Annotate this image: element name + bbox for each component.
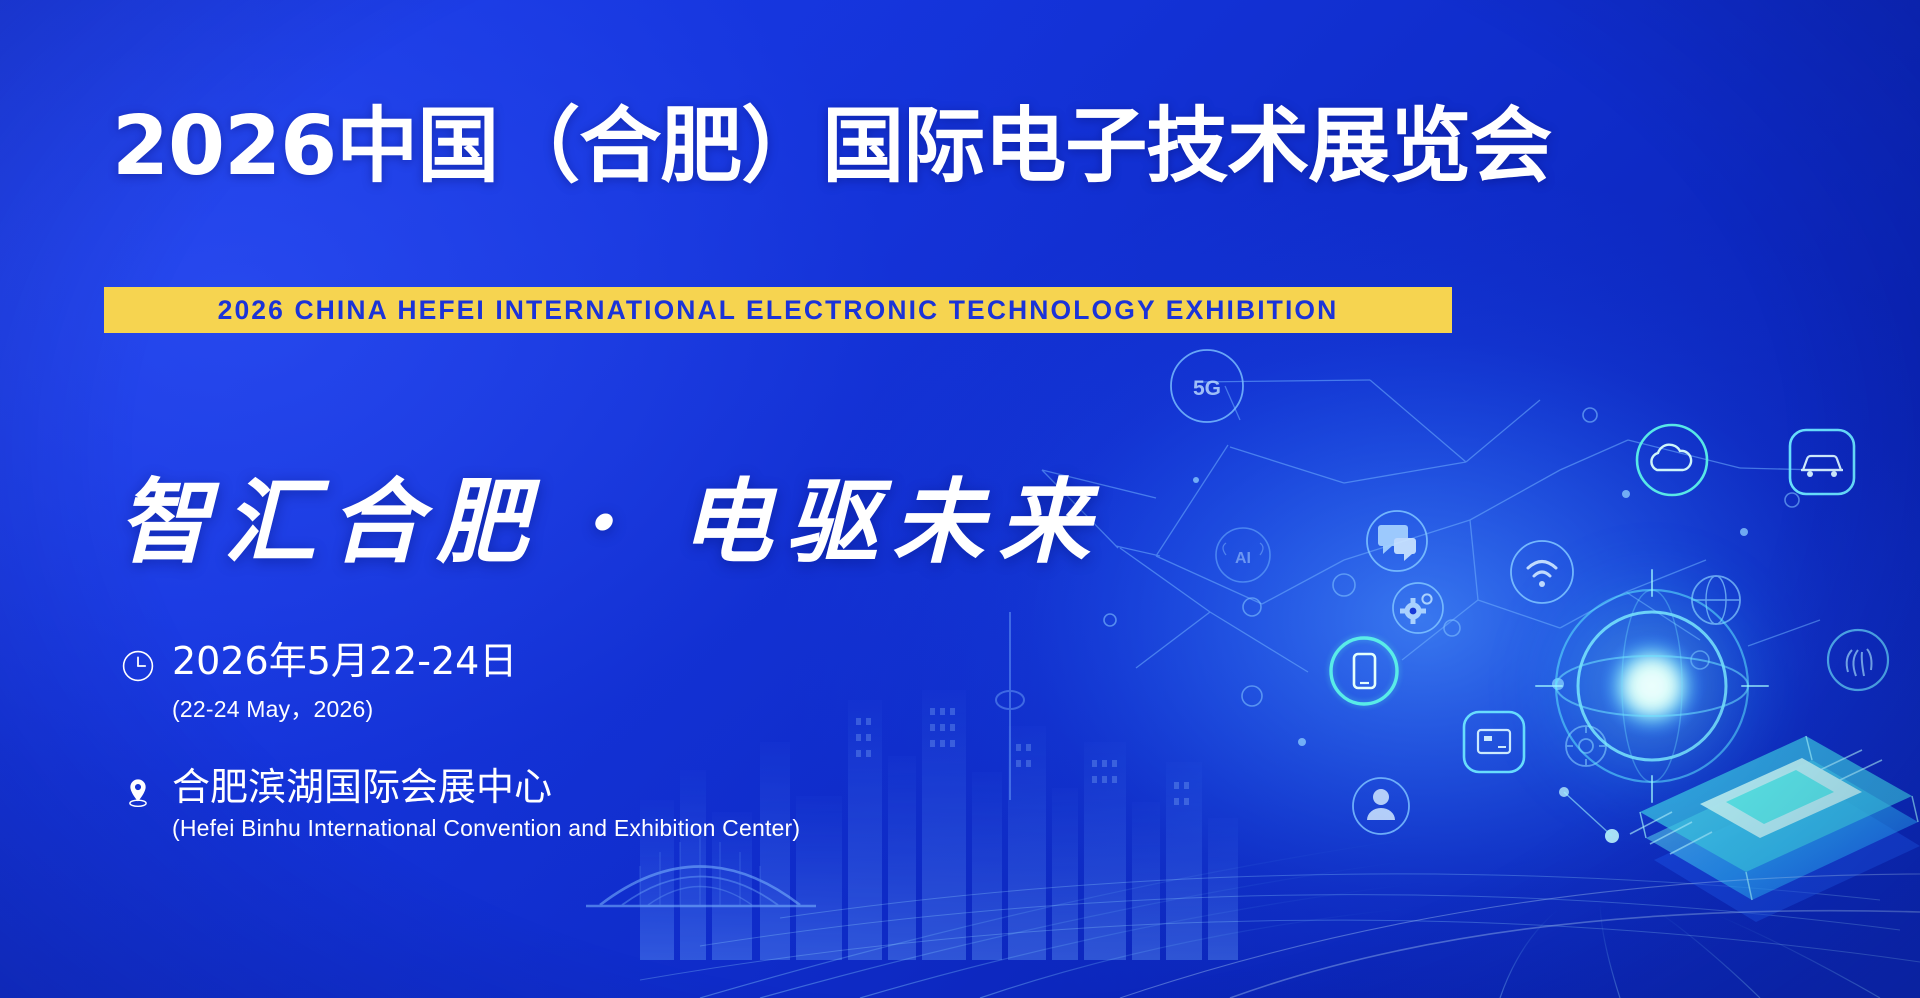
slogan-calligraphy: 智汇合肥 · 电驱未来: [118, 448, 1104, 581]
english-title-band: 2026 CHINA HEFEI INTERNATIONAL ELECTRONI…: [104, 287, 1452, 333]
event-date-sub: (22-24 May，2026): [172, 690, 517, 724]
event-venue-main: 合肥滨湖国际会展中心: [172, 766, 800, 809]
event-venue-sub: (Hefei Binhu International Convention an…: [172, 815, 800, 842]
location-pin-icon: [118, 772, 158, 812]
event-date-row: 2026年5月22-24日 (22-24 May，2026): [118, 640, 800, 724]
poster-canvas: 5G AI: [0, 0, 1920, 998]
clock-icon: [118, 646, 158, 686]
event-date-main: 2026年5月22-24日: [172, 640, 517, 683]
event-date-texts: 2026年5月22-24日 (22-24 May，2026): [172, 640, 517, 724]
poster-content: 2026中国（合肥）国际电子技术展览会 2026 CHINA HEFEI INT…: [0, 0, 1920, 998]
event-info-block: 2026年5月22-24日 (22-24 May，2026) 合肥滨湖国际会展中…: [118, 640, 800, 842]
event-venue-texts: 合肥滨湖国际会展中心 (Hefei Binhu International Co…: [172, 766, 800, 843]
page-title-english: 2026 CHINA HEFEI INTERNATIONAL ELECTRONI…: [218, 295, 1339, 326]
event-venue-row: 合肥滨湖国际会展中心 (Hefei Binhu International Co…: [118, 766, 800, 843]
page-title-chinese: 2026中国（合肥）国际电子技术展览会: [112, 104, 1551, 190]
